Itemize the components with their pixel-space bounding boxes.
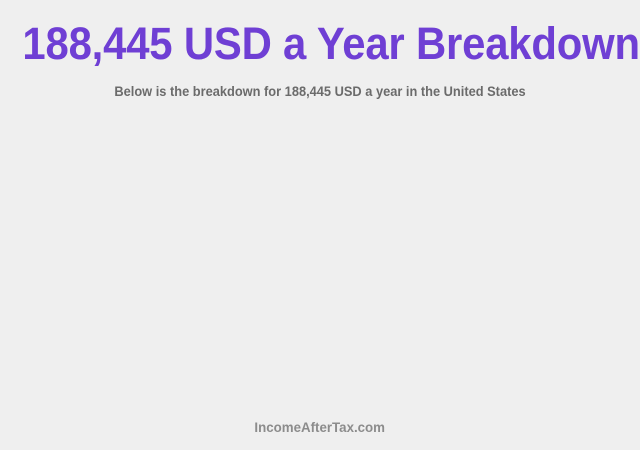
page-title: 188,445 USD a Year Breakdown bbox=[22, 19, 617, 69]
site-credit: IncomeAfterTax.com bbox=[255, 419, 386, 435]
chart-canvas bbox=[0, 110, 640, 415]
breakdown-page: 188,445 USD a Year Breakdown Below is th… bbox=[0, 0, 640, 450]
page-subtitle: Below is the breakdown for 188,445 USD a… bbox=[16, 84, 624, 100]
chart-body bbox=[0, 110, 640, 415]
page-footer: IncomeAfterTax.com bbox=[0, 419, 640, 437]
